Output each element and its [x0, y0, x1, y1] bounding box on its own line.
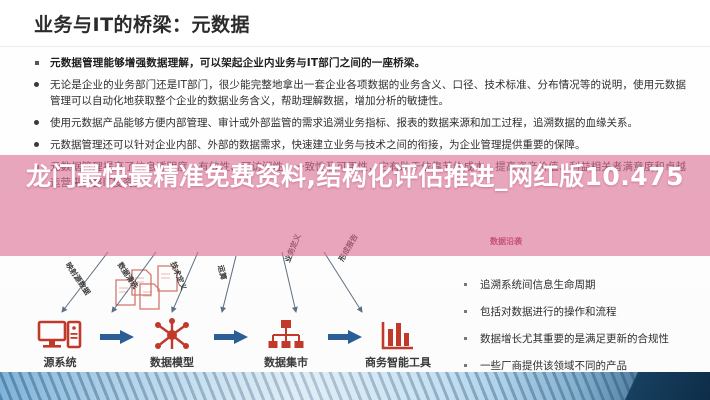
flow-step-source: 源系统 — [14, 318, 106, 370]
diagram-arrows-icon — [46, 250, 466, 322]
bullet-text: 元数据管理能够增强数据理解，可以架起企业内业务与IT部门之间的一座桥梁。 — [50, 57, 425, 69]
bullet-item-4: 元数据管理还可以针对企业内部、外部的数据需求，快速建立业务与技术之间的衔接，为企… — [24, 137, 686, 153]
flow-step-label: 源系统 — [14, 354, 106, 370]
list-item: 包括对数据进行的操作和流程 — [458, 305, 710, 319]
flow-step-label: 数据模型 — [126, 354, 218, 370]
title-divider — [0, 46, 710, 47]
screenshot-root: 业务与IT的桥梁：元数据 元数据管理能够增强数据理解，可以架起企业内业务与IT部… — [0, 0, 710, 400]
bullet-marker-icon — [34, 82, 39, 87]
bullet-marker-icon — [34, 142, 39, 147]
bullet-marker-icon — [464, 364, 467, 367]
bullet-marker-icon — [35, 61, 39, 65]
list-item: 一些厂商提供该领域不同的产品 — [458, 359, 710, 373]
bottom-ribbon — [0, 372, 710, 400]
monitor-server-icon — [14, 318, 106, 352]
bullet-text: 元数据管理还可以针对企业内部、外部的数据需求，快速建立业务与技术之间的衔接，为企… — [50, 139, 586, 151]
ribbon-wedge — [580, 372, 710, 400]
flow-step-bi-tool: 商务智能工具 — [352, 318, 444, 370]
bullet-item-2: 无论是企业的业务部门还是IT部门，很少能完整地拿出一套企业各项数据的业务含义、口… — [24, 77, 686, 109]
bullet-text: 使用元数据产品能够方便内部管理、审计或外部监管的需求追溯业务指标、报表的数据来源… — [50, 117, 638, 129]
bullet-item-1: 元数据管理能够增强数据理解，可以架起企业内业务与IT部门之间的一座桥梁。 — [24, 55, 686, 71]
hierarchy-icon — [240, 318, 332, 352]
bullet-item-3: 使用元数据产品能够方便内部管理、审计或外部监管的需求追溯业务指标、报表的数据来源… — [24, 115, 686, 131]
flow-step-label: 数据集市 — [240, 354, 332, 370]
list-item: 数据增长尤其重要的是满足更新的合规性 — [458, 332, 710, 346]
overlay-headline: 龙门最快最精准免费资料,结构化评估推进_网红版10.475 — [0, 160, 710, 193]
list-item: 追溯系统间信息生命周期 — [458, 278, 710, 292]
bullet-text: 无论是企业的业务部门还是IT部门，很少能完整地拿出一套企业各项数据的业务含义、口… — [50, 79, 686, 107]
sub-bullet-text: 包括对数据进行的操作和流程 — [480, 306, 617, 318]
sub-bullet-text: 追溯系统间信息生命周期 — [480, 279, 596, 291]
sub-bullet-text: 数据增长尤其重要的是满足更新的合规性 — [480, 333, 669, 345]
flow-step-datamart: 数据集市 — [240, 318, 332, 370]
bullet-marker-icon — [34, 120, 39, 125]
flow-step-label: 商务智能工具 — [352, 354, 444, 370]
bar-chart-icon — [352, 318, 444, 352]
network-node-icon — [126, 318, 218, 352]
sub-bullet-text: 一些厂商提供该领域不同的产品 — [480, 360, 627, 372]
slide-title-area: 业务与IT的桥梁：元数据 — [34, 10, 334, 46]
page-title: 业务与IT的桥梁：元数据 — [34, 10, 334, 37]
bullet-marker-icon — [464, 337, 467, 340]
flow-step-model: 数据模型 — [126, 318, 218, 370]
diagram-arrow-labels: 映射源数据 数据清洗 技术定义 运算 业务定义 形成报告 — [46, 250, 466, 322]
